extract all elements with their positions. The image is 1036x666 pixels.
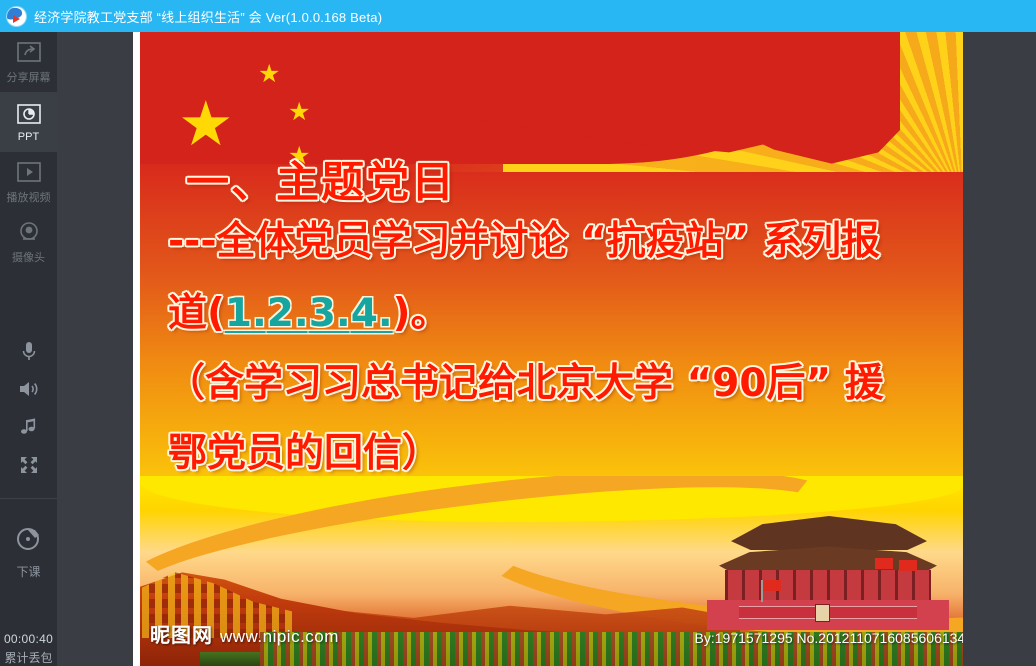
gate-upper-roof (731, 516, 927, 550)
sidebar-label-ppt: PPT (18, 131, 39, 143)
sidebar-status: 00:00:40 累计丢包 (0, 632, 57, 666)
sidebar-label-play-video: 播放视频 (7, 189, 51, 205)
fullscreen-icon (19, 455, 39, 480)
ppt-icon (14, 102, 44, 127)
slide-heading: 一、主题党日 (186, 148, 456, 210)
slide-line-3: 道(1.2.3.4.)。 (168, 282, 449, 338)
hyperlink-4[interactable]: 4. (351, 291, 393, 336)
slide-footer-artwork: 昵图网 www.nipic.com By:1971571295 No.20121… (140, 476, 963, 666)
play-video-icon (14, 160, 44, 185)
flag-star-small-2: ★ (288, 100, 310, 125)
slide-line-5: 鄂党员的回信） (168, 422, 441, 478)
microphone-icon (19, 340, 39, 367)
tool-sidebar: 分享屏幕 PPT 播放视频 (0, 32, 57, 666)
sidebar-label-share-screen: 分享屏幕 (7, 69, 51, 85)
line3-suffix: )。 (393, 291, 450, 336)
music-note-icon (19, 417, 39, 442)
music-button[interactable] (0, 410, 57, 448)
gate-flag-1 (763, 580, 781, 591)
session-timer: 00:00:40 (0, 632, 57, 646)
sidebar-item-camera[interactable]: 摄像头 (0, 212, 57, 272)
hyperlink-3[interactable]: 3. (309, 291, 351, 336)
end-class-button[interactable]: 下课 (0, 521, 57, 580)
gate-flag-2 (875, 558, 893, 569)
app-window: 经济学院教工党支部 “线上组织生活” 会 Ver(1.0.0.168 Beta)… (0, 0, 1036, 666)
microphone-button[interactable] (0, 334, 57, 372)
image-credit: By:1971571295 No.20121107160856061346 (695, 630, 963, 646)
hyperlink-2[interactable]: 2. (267, 291, 309, 336)
slide-line-4: （含学习习总书记给北京大学 “90后” 援 (166, 352, 884, 408)
slide-canvas[interactable]: ★ ★ ★ ★ ★ 一、主题党日 ---全体党员学习并讨论 “抗疫站” 系列报 … (140, 32, 963, 666)
gate-portrait (815, 604, 830, 622)
presentation-stage: ★ ★ ★ ★ ★ 一、主题党日 ---全体党员学习并讨论 “抗疫站” 系列报 … (57, 32, 1036, 666)
slide-line-2: ---全体党员学习并讨论 “抗疫站” 系列报 (168, 210, 880, 266)
sidebar-label-camera: 摄像头 (12, 249, 45, 265)
gate-columns (725, 570, 931, 600)
watermark-cn: 昵图网 (150, 619, 213, 648)
title-bar: 经济学院教工党支部 “线上组织生活” 会 Ver(1.0.0.168 Beta) (0, 0, 1036, 32)
sidebar-item-share-screen[interactable]: 分享屏幕 (0, 32, 57, 92)
window-title: 经济学院教工党支部 “线上组织生活” 会 Ver(1.0.0.168 Beta) (34, 7, 382, 26)
app-logo-icon (7, 7, 26, 26)
quick-controls (0, 334, 57, 486)
speaker-icon (17, 379, 41, 404)
speaker-button[interactable] (0, 372, 57, 410)
hyperlink-1[interactable]: 1. (225, 291, 267, 336)
end-class-label: 下课 (16, 563, 40, 580)
camera-icon (14, 220, 44, 245)
power-icon (13, 521, 45, 558)
sidebar-divider (0, 498, 57, 499)
share-screen-icon (14, 40, 44, 65)
watermark-url: www.nipic.com (220, 627, 339, 647)
sidebar-item-ppt[interactable]: PPT (0, 92, 57, 152)
sidebar-item-play-video[interactable]: 播放视频 (0, 152, 57, 212)
flag-star-small-1: ★ (258, 62, 280, 87)
tiananmen-illustration (703, 510, 953, 642)
gate-flag-3 (899, 560, 917, 571)
flag-star-large: ★ (178, 94, 234, 156)
line3-prefix: 道( (168, 291, 225, 336)
packet-loss-label: 累计丢包 (0, 649, 57, 666)
fullscreen-button[interactable] (0, 448, 57, 486)
nipic-watermark: 昵图网 www.nipic.com (150, 619, 339, 648)
